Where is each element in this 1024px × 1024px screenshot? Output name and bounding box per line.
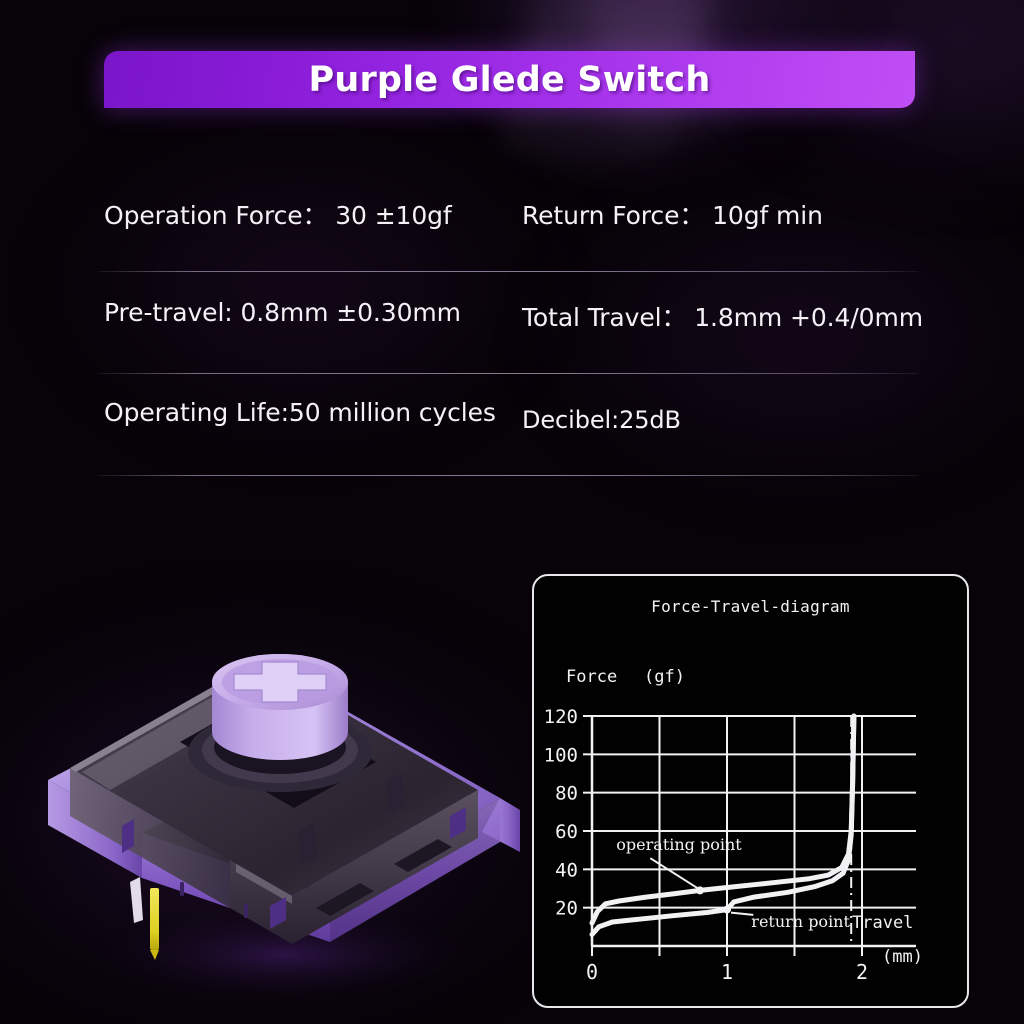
annotation-label: return point <box>751 912 850 931</box>
spec-pre-travel: Pre-travel: 0.8mm ±0.30mm <box>104 298 461 327</box>
spec-divider <box>98 475 918 476</box>
y-axis-unit: (gf) <box>644 667 685 687</box>
spec-table: Operation Force： 30 ±10gf Return Force： … <box>98 170 918 476</box>
y-tick-label: 60 <box>555 821 578 843</box>
y-tick-label: 120 <box>544 706 578 728</box>
y-tick-label: 80 <box>555 783 578 805</box>
spec-total-travel: Total Travel： 1.8mm +0.4/0mm <box>522 298 923 334</box>
force-travel-chart: Force(gf)Travel(mm)20406080100120012oper… <box>534 576 967 1006</box>
annotation-point-marker <box>723 906 731 914</box>
spec-row: Pre-travel: 0.8mm ±0.30mm Total Travel： … <box>98 272 918 374</box>
spec-return-force: Return Force： 10gf min <box>522 196 823 232</box>
title-banner: Purple Glede Switch <box>104 51 915 108</box>
y-tick-label: 100 <box>544 744 578 766</box>
spec-row: Operation Force： 30 ±10gf Return Force： … <box>98 170 918 272</box>
press-curve <box>592 716 854 923</box>
y-tick-label: 20 <box>555 898 578 920</box>
page-title: Purple Glede Switch <box>309 60 711 100</box>
spec-operating-life: Operating Life:50 million cycles <box>104 398 496 427</box>
annotation-label: operating point <box>616 835 742 854</box>
base-vent-1 <box>180 882 184 896</box>
spec-row: Operating Life:50 million cycles Decibel… <box>98 374 918 476</box>
annotation-leader-line <box>650 858 698 888</box>
annotation-leader-line <box>731 913 753 915</box>
product-info-page: Purple Glede Switch Operation Force： 30 … <box>0 0 1024 1024</box>
x-axis-unit: (mm) <box>882 947 923 967</box>
y-axis-label: Force <box>566 667 617 687</box>
x-tick-label: 1 <box>721 960 733 984</box>
switch-pin-white <box>130 877 143 923</box>
force-travel-diagram-card: Force-Travel-diagram Force(gf)Travel(mm)… <box>532 574 969 1008</box>
x-tick-label: 0 <box>586 960 598 984</box>
y-tick-label: 40 <box>555 859 578 881</box>
base-vent-2 <box>244 904 248 918</box>
switch-product-image <box>30 620 530 1010</box>
spec-decibel: Decibel:25dB <box>522 406 681 434</box>
switch-pin-yellow <box>150 888 159 950</box>
annotation-point-marker <box>696 886 704 894</box>
x-tick-label: 2 <box>856 960 868 984</box>
spec-operation-force: Operation Force： 30 ±10gf <box>104 196 452 232</box>
